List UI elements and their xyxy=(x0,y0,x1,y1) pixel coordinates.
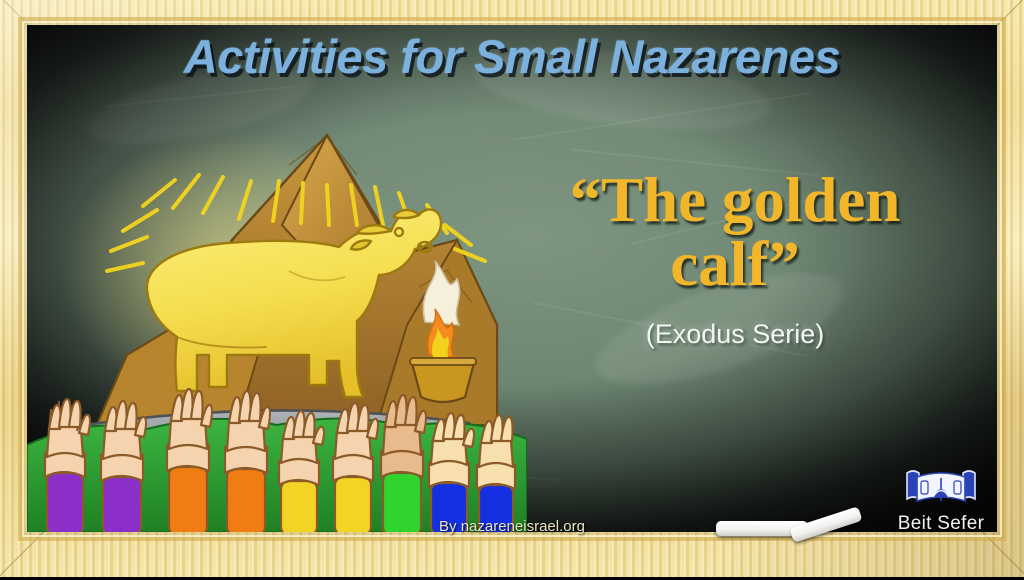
beit-sefer-logo[interactable]: Beit Sefer xyxy=(882,465,1000,535)
main-title: “The golden calf” xyxy=(505,168,965,297)
hand-2 xyxy=(101,401,146,532)
hand-1 xyxy=(45,399,90,532)
hand-4 xyxy=(225,391,270,532)
main-title-line-2: calf” xyxy=(505,232,965,296)
title-block: “The golden calf” (Exodus Serie) xyxy=(505,168,965,350)
hand-9 xyxy=(429,413,474,532)
page-title: Activities for Small Nazarenes xyxy=(0,29,1024,84)
open-book-scroll-icon xyxy=(899,465,983,511)
hand-6 xyxy=(333,403,378,532)
golden-calf-illustration xyxy=(27,25,527,532)
hand-5 xyxy=(279,411,324,532)
logo-label: Beit Sefer xyxy=(882,513,1000,535)
subtitle: (Exodus Serie) xyxy=(505,319,965,350)
credit-text: By nazareneisrael.org xyxy=(0,518,1024,535)
main-title-line-1: “The golden xyxy=(505,168,965,232)
hand-10 xyxy=(477,415,515,532)
hand-8 xyxy=(381,395,426,532)
